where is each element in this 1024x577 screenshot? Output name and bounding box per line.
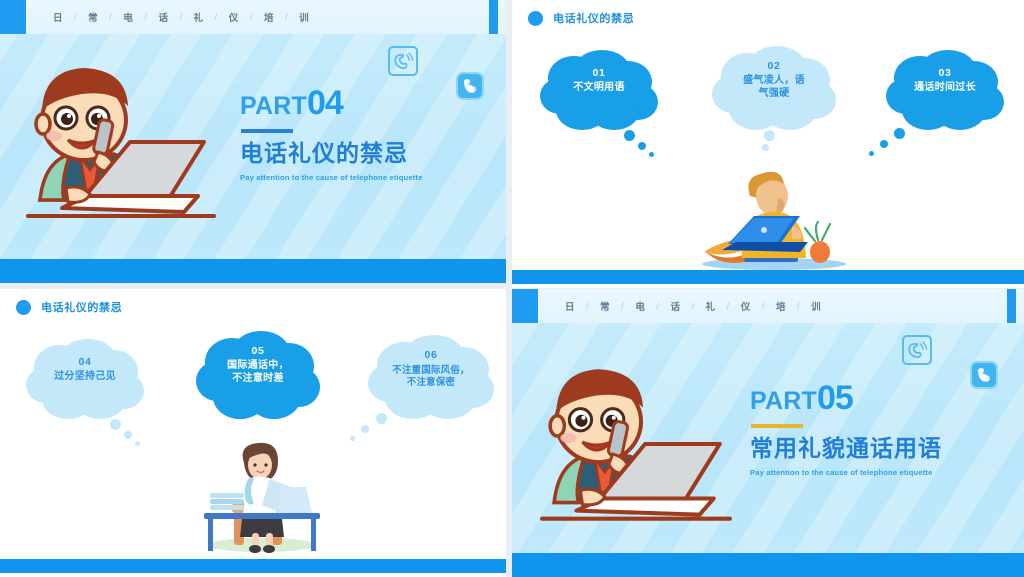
section-subtitle-en: Pay attention to the cause of telephone … — [240, 173, 490, 182]
bubble-number: 05 — [196, 345, 320, 358]
breadcrumb: 日 / 常 / 电 / 话 / 礼 / 仪 / 培 / 训 — [554, 299, 832, 313]
slide-taboo-1[interactable]: 电话礼仪的禁忌 — [512, 0, 1024, 288]
breadcrumb-item: 日 — [42, 10, 74, 24]
slide-heading: 电话礼仪的禁忌 — [528, 10, 634, 26]
breadcrumb-item: 电 — [624, 299, 656, 313]
part-kicker: PART05 — [750, 381, 1016, 415]
breadcrumb-item: 日 — [554, 299, 586, 313]
header-end-accent-bar — [489, 0, 498, 34]
title-divider-rule — [241, 129, 293, 133]
slide-footer-bar — [512, 553, 1024, 577]
bubble-text: 05 国际通话中， 不注意时差 — [196, 345, 320, 386]
bubble-tail — [624, 130, 664, 162]
phone-signal-outline-icon — [902, 335, 932, 365]
part-kicker: PART04 — [240, 86, 490, 120]
breadcrumb-item: 话 — [659, 299, 691, 313]
section-title-block: PART05 常用礼貌通话用语 Pay attention to the cau… — [750, 381, 1016, 477]
illustration-woman-at-desk — [198, 419, 326, 553]
header-end-accent-bar — [1007, 289, 1016, 323]
slide-part-05[interactable]: 日 / 常 / 电 / 话 / 礼 / 仪 / 培 / 训 — [512, 289, 1024, 577]
slide-header-bar: 日 / 常 / 电 / 话 / 礼 / 仪 / 培 / 训 — [0, 0, 506, 34]
breadcrumb: 日 / 常 / 电 / 话 / 礼 / 仪 / 培 / 训 — [42, 10, 320, 24]
bubble-tail — [110, 419, 150, 451]
title-divider-rule — [751, 424, 803, 428]
illustration-man-with-laptop — [692, 140, 852, 272]
slide-header-bar: 日 / 常 / 电 / 话 / 礼 / 仪 / 培 / 训 — [512, 289, 1024, 323]
bubble-text: 01 不文明用语 — [540, 67, 658, 95]
breadcrumb-item: 仪 — [218, 10, 250, 24]
part-kicker-word: PART — [750, 387, 817, 415]
slide-deck: 日 / 常 / 电 / 话 / 礼 / 仪 / 培 / 训 — [0, 0, 1024, 577]
slide-footer-bar — [0, 259, 506, 283]
breadcrumb-item: 训 — [288, 10, 320, 24]
bubble-number: 06 — [368, 349, 494, 362]
bubble-tail — [760, 130, 790, 158]
heading-bullet-dot — [16, 300, 31, 315]
slide-part-04[interactable]: 日 / 常 / 电 / 话 / 礼 / 仪 / 培 / 训 — [0, 0, 506, 283]
breadcrumb-item: 训 — [800, 299, 832, 313]
thought-bubble-04[interactable]: 04 过分坚持己见 — [26, 337, 144, 429]
breadcrumb-item: 礼 — [695, 299, 727, 313]
bubble-label: 国际通话中， 不注意时差 — [196, 360, 320, 386]
bubble-label: 不文明用语 — [540, 82, 658, 95]
header-accent-tab — [0, 0, 26, 34]
breadcrumb-item: 常 — [77, 10, 109, 24]
breadcrumb-item: 话 — [147, 10, 179, 24]
breadcrumb-item: 仪 — [730, 299, 762, 313]
bubble-label: 盛气凌人，语 气强硬 — [712, 75, 836, 101]
thought-bubble-02[interactable]: 02 盛气凌人，语 气强硬 — [712, 44, 836, 140]
slide-heading-text: 电话礼仪的禁忌 — [553, 10, 634, 26]
illustration-boy-on-phone — [532, 349, 744, 541]
bubble-text: 04 过分坚持己见 — [26, 356, 144, 384]
thought-bubble-03[interactable]: 03 通话时间过长 — [886, 48, 1004, 140]
slide-taboo-2[interactable]: 电话礼仪的禁忌 — [0, 289, 506, 577]
breadcrumb-item: 培 — [765, 299, 797, 313]
breadcrumb-item: 常 — [589, 299, 621, 313]
slide-heading: 电话礼仪的禁忌 — [16, 299, 122, 315]
bubble-number: 02 — [712, 60, 836, 73]
bubble-tail — [348, 413, 390, 447]
part-kicker-number: 05 — [817, 379, 853, 417]
slide-footer-bar — [512, 270, 1024, 284]
bubble-number: 01 — [540, 67, 658, 80]
thought-bubble-01[interactable]: 01 不文明用语 — [540, 48, 658, 140]
section-title-cn: 常用礼貌通话用语 — [750, 436, 1016, 461]
bubble-number: 03 — [886, 67, 1004, 80]
bubble-text: 02 盛气凌人，语 气强硬 — [712, 60, 836, 101]
illustration-boy-on-phone — [18, 48, 228, 238]
bubble-text: 06 不注重国际风俗， 不注意保密 — [368, 349, 494, 389]
bubble-label: 通话时间过长 — [886, 82, 1004, 95]
part-kicker-number: 04 — [307, 84, 343, 122]
thought-bubble-05[interactable]: 05 国际通话中， 不注意时差 — [196, 329, 320, 429]
part-kicker-word: PART — [240, 92, 307, 120]
slide-footer-bar — [0, 559, 506, 573]
section-title-block: PART04 电话礼仪的禁忌 Pay attention to the caus… — [240, 86, 490, 182]
heading-bullet-dot — [528, 11, 543, 26]
section-title-cn: 电话礼仪的禁忌 — [240, 141, 490, 166]
bubble-tail — [868, 128, 908, 162]
bubble-number: 04 — [26, 356, 144, 369]
bubble-label: 不注重国际风俗， 不注意保密 — [368, 364, 494, 388]
breadcrumb-item: 电 — [112, 10, 144, 24]
bubble-label: 过分坚持己见 — [26, 371, 144, 384]
breadcrumb-item: 礼 — [183, 10, 215, 24]
header-accent-tab — [512, 289, 538, 323]
thought-bubble-06[interactable]: 06 不注重国际风俗， 不注意保密 — [368, 333, 494, 429]
phone-signal-outline-icon — [388, 46, 418, 76]
slide-heading-text: 电话礼仪的禁忌 — [41, 299, 122, 315]
bubble-text: 03 通话时间过长 — [886, 67, 1004, 95]
breadcrumb-item: 培 — [253, 10, 285, 24]
section-subtitle-en: Pay attention to the cause of telephone … — [750, 468, 1016, 477]
